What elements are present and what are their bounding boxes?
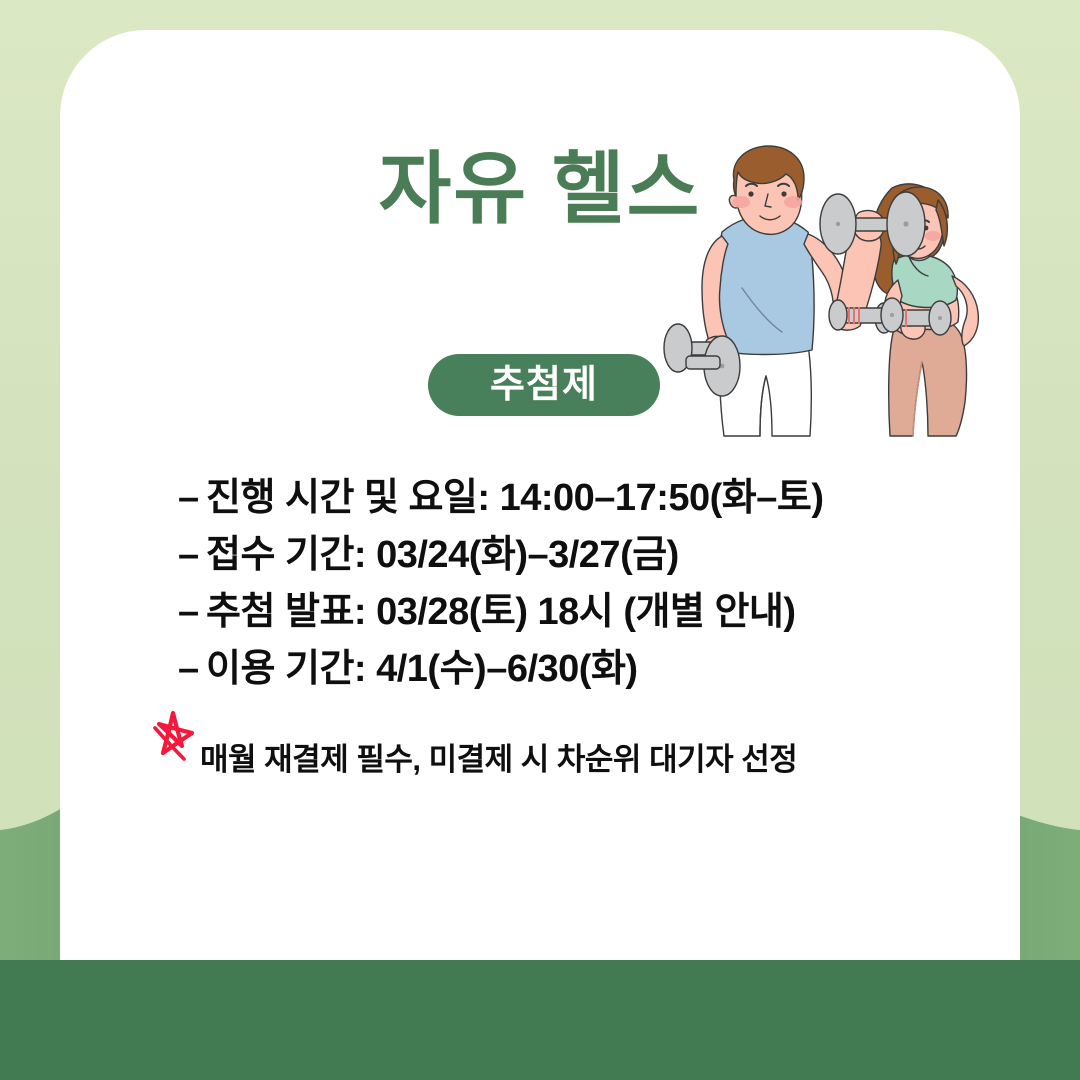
- list-item: – 이용 기간: 4/1(수)–6/30(화): [178, 637, 978, 694]
- status-badge: 추첨제: [428, 354, 660, 416]
- bottom-green-band: [0, 960, 1080, 1080]
- list-item-dash: –: [178, 477, 206, 520]
- list-item-dash: –: [178, 591, 206, 634]
- poster-canvas: 자유 헬스: [0, 0, 1080, 1080]
- list-item-dash: –: [178, 648, 206, 691]
- footnote-label: 매월 재결제 필수, 미결제 시 차순위 대기자 선정: [200, 734, 797, 779]
- list-item-dash: –: [178, 534, 206, 577]
- list-item-label: 추첨 발표: 03/28(토) 18시 (개별 안내): [206, 580, 796, 635]
- list-item-label: 이용 기간: 4/1(수)–6/30(화): [206, 637, 638, 692]
- list-item: – 접수 기간: 03/24(화)–3/27(금): [178, 523, 978, 580]
- footnote: 매월 재결제 필수, 미결제 시 차순위 대기자 선정: [142, 706, 982, 786]
- status-badge-label: 추첨제: [490, 366, 598, 404]
- list-item: – 추첨 발표: 03/28(토) 18시 (개별 안내): [178, 580, 978, 637]
- list-item-label: 접수 기간: 03/24(화)–3/27(금): [206, 523, 679, 578]
- list-item-label: 진행 시간 및 요일: 14:00–17:50(화–토): [206, 466, 823, 521]
- two-people-lifting-dumbbells-illustration: [660, 140, 1005, 440]
- list-item: – 진행 시간 및 요일: 14:00–17:50(화–토): [178, 466, 978, 523]
- star-icon: [142, 706, 204, 768]
- info-list: – 진행 시간 및 요일: 14:00–17:50(화–토) – 접수 기간: …: [178, 466, 978, 694]
